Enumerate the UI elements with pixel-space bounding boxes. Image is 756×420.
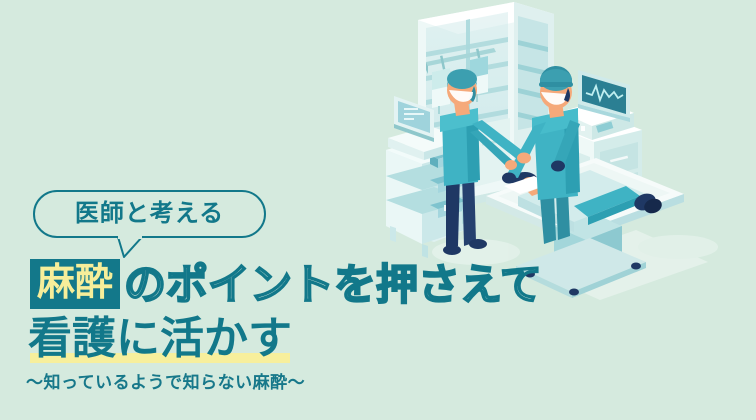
- headline-line-1: 麻酔 のポイントを押さえて: [30, 258, 542, 310]
- speech-bubble-tail-icon: [116, 236, 144, 258]
- anesthesia-course-banner: 医師と考える 麻酔 のポイントを押さえて 看護に活かす 〜知っているようで知らな…: [0, 0, 756, 420]
- subtitle: 〜知っているようで知らない麻酔〜: [26, 374, 305, 391]
- eyebrow-label: 医師と考える: [35, 192, 264, 236]
- banner-text-layer: 医師と考える 麻酔 のポイントを押さえて 看護に活かす 〜知っているようで知らな…: [0, 0, 560, 420]
- headline-line-2: 看護に活かす: [28, 312, 292, 366]
- headline-keyword-box: 麻酔: [30, 259, 120, 309]
- headline-line-1-rest: のポイントを押さえて: [124, 264, 542, 306]
- eyebrow-speech-bubble: 医師と考える: [33, 190, 266, 238]
- headline-line-2-text: 看護に活かす: [28, 314, 292, 363]
- headline-keyword: 麻酔: [37, 264, 113, 302]
